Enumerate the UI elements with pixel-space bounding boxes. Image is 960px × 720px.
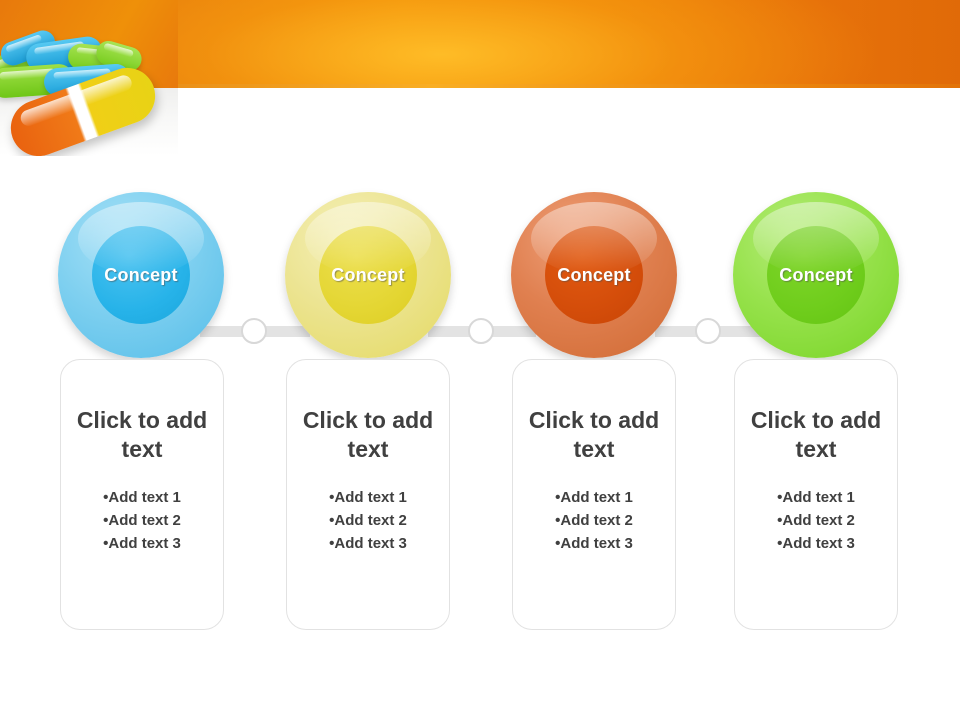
bullet-text: Add text 1 [560, 489, 633, 506]
concept-label-3: Concept [557, 265, 630, 286]
bullet-text: Add text 2 [334, 512, 407, 529]
bullet-text: Add text 1 [334, 489, 407, 506]
concept-textbox-4[interactable]: Click to add text •Add text 1 •Add text … [734, 359, 898, 630]
bullet-item[interactable]: •Add text 1 [61, 486, 223, 509]
bullet-text: Add text 1 [108, 489, 181, 506]
bullet-text: Add text 3 [108, 535, 181, 552]
concept-bullet-list-1[interactable]: •Add text 1 •Add text 2 •Add text 3 [61, 486, 223, 555]
concept-placeholder-title-2[interactable]: Click to add text [287, 406, 449, 464]
capsule-pills-photo [0, 0, 178, 156]
concept-bullet-list-3[interactable]: •Add text 1 •Add text 2 •Add text 3 [513, 486, 675, 555]
concept-circle-3[interactable]: Concept [511, 192, 677, 358]
concept-textbox-3[interactable]: Click to add text •Add text 1 •Add text … [512, 359, 676, 630]
bullet-text: Add text 2 [560, 512, 633, 529]
connector-node-2 [468, 318, 494, 344]
bullet-text: Add text 3 [782, 535, 855, 552]
bullet-text: Add text 1 [782, 489, 855, 506]
concept-label-1: Concept [104, 265, 177, 286]
bullet-text: Add text 2 [782, 512, 855, 529]
concept-circle-4[interactable]: Concept [733, 192, 899, 358]
concept-placeholder-title-4[interactable]: Click to add text [735, 406, 897, 464]
bullet-item[interactable]: •Add text 3 [513, 532, 675, 555]
bullet-text: Add text 2 [108, 512, 181, 529]
bullet-item[interactable]: •Add text 2 [287, 509, 449, 532]
slide-canvas: Concept Concept Concept Concept Click to… [0, 0, 960, 720]
bullet-item[interactable]: •Add text 1 [287, 486, 449, 509]
bullet-item[interactable]: •Add text 2 [513, 509, 675, 532]
concept-textbox-1[interactable]: Click to add text •Add text 1 •Add text … [60, 359, 224, 630]
concept-placeholder-title-1[interactable]: Click to add text [61, 406, 223, 464]
bullet-item[interactable]: •Add text 3 [61, 532, 223, 555]
concept-placeholder-title-3[interactable]: Click to add text [513, 406, 675, 464]
concept-label-4: Concept [779, 265, 852, 286]
bullet-text: Add text 3 [560, 535, 633, 552]
bullet-item[interactable]: •Add text 1 [735, 486, 897, 509]
bullet-item[interactable]: •Add text 2 [61, 509, 223, 532]
bullet-item[interactable]: •Add text 1 [513, 486, 675, 509]
concept-circle-1[interactable]: Concept [58, 192, 224, 358]
concept-label-2: Concept [331, 265, 404, 286]
connector-node-1 [241, 318, 267, 344]
concept-bullet-list-2[interactable]: •Add text 1 •Add text 2 •Add text 3 [287, 486, 449, 555]
bullet-text: Add text 3 [334, 535, 407, 552]
bullet-item[interactable]: •Add text 3 [287, 532, 449, 555]
concept-circle-2[interactable]: Concept [285, 192, 451, 358]
bullet-item[interactable]: •Add text 3 [735, 532, 897, 555]
concept-textbox-2[interactable]: Click to add text •Add text 1 •Add text … [286, 359, 450, 630]
connector-node-3 [695, 318, 721, 344]
bullet-item[interactable]: •Add text 2 [735, 509, 897, 532]
concept-bullet-list-4[interactable]: •Add text 1 •Add text 2 •Add text 3 [735, 486, 897, 555]
